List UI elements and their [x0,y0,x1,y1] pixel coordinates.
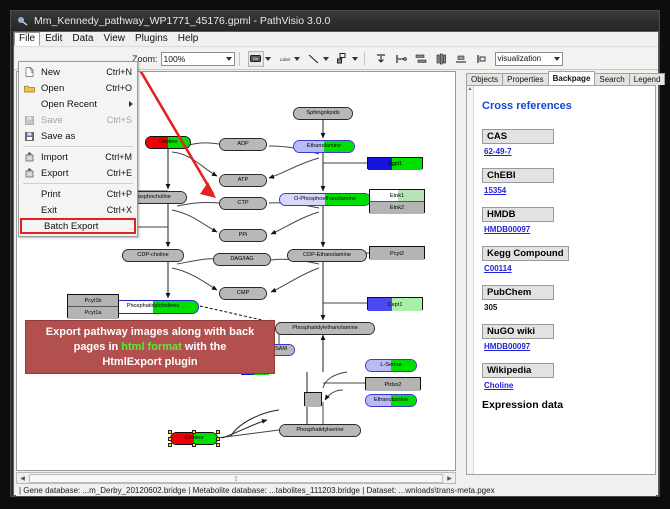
scroll-up-icon[interactable]: ▲ [467,86,473,93]
side-panel-tabs: Objects Properties Backpage Search Legen… [466,71,664,85]
file-menu-item-exit[interactable]: ExitCtrl+X [19,202,137,218]
annotation-line-1: Export pathway images along with back [46,325,254,340]
line-tool-button[interactable] [306,51,322,67]
file-menu-item-open[interactable]: OpenCtrl+O [19,80,137,96]
pathvisio-icon [17,15,29,27]
menu-bar: File Edit Data View Plugins Help [14,32,658,47]
import-icon [21,151,37,164]
menu-item-accelerator: Ctrl+X [107,205,137,215]
canvas-hscrollbar[interactable]: ◀ ▯ ▶ [16,472,456,484]
save-disk-icon [21,114,37,127]
menu-separator [23,146,133,147]
xref-value-nugo-wiki[interactable]: HMDB00097 [484,342,649,351]
align-top-icon[interactable] [373,51,389,67]
no-icon [24,220,40,233]
menu-item-label: Save [37,115,107,126]
label-dropdown-arrow[interactable] [293,51,302,67]
expression-data-title: Expression data [482,399,649,411]
xref-db-hmdb: HMDB [482,207,554,222]
backpage-scrollbar[interactable]: ▲ [467,86,474,474]
menu-item-label: New [37,67,106,78]
annotation-line-2b: with the [182,341,227,353]
no-icon [21,204,37,217]
svg-text:Gn: Gn [253,56,258,61]
menu-item-label: Save as [37,131,132,142]
line-dropdown-arrow[interactable] [322,51,331,67]
label-tool-button[interactable]: Label [277,51,293,67]
annotation-highlight: html format [121,341,182,353]
xref-db-pubchem: PubChem [482,285,554,300]
backpage-panel: ▲ Cross references CAS62-49-7ChEBI15354H… [466,85,656,475]
toolbar-separator [239,52,240,66]
client-area: File Edit Data View Plugins Help Zoom: 1… [13,31,659,496]
distribute-horizontal-icon[interactable] [433,51,449,67]
callout-annotation: Export pathway images along with back pa… [25,320,275,374]
distribute-vertical-icon[interactable] [413,51,429,67]
xref-value-pubchem: 305 [484,303,649,312]
toolbar-separator-2 [364,52,365,66]
tab-properties[interactable]: Properties [502,73,548,85]
menu-item-label: Open [37,83,106,94]
scroll-left-icon[interactable]: ◀ [17,473,28,483]
visualization-value: visualization [498,54,542,63]
new-file-icon [21,66,37,79]
file-menu-popup[interactable]: NewCtrl+NOpenCtrl+OOpen RecentSaveCtrl+S… [18,61,138,237]
file-menu-item-save-as[interactable]: Save as [19,128,137,144]
xref-db-nugo-wiki: NuGO wiki [482,324,554,339]
backpage-content: Cross references CAS62-49-7ChEBI15354HMD… [476,86,655,474]
file-menu-item-save: SaveCtrl+S [19,112,137,128]
group-icon[interactable] [473,51,489,67]
menu-help[interactable]: Help [173,32,204,46]
side-panel: Objects Properties Backpage Search Legen… [458,71,658,484]
screenshot-root: Mm_Kennedy_pathway_WP1771_45176.gpml - P… [0,0,670,509]
annotation-line-3: HtmlExport plugin [102,355,197,370]
menu-item-accelerator: Ctrl+S [107,115,137,125]
xref-db-wikipedia: Wikipedia [482,363,554,378]
file-menu-item-export[interactable]: ExportCtrl+E [19,165,137,181]
shape-dropdown-arrow[interactable] [351,51,360,67]
menu-item-label: Print [37,189,107,200]
menu-item-label: Exit [37,205,107,216]
menu-item-label: Batch Export [40,221,129,232]
cross-references-title: Cross references [482,100,649,112]
cross-reference-list: CAS62-49-7ChEBI15354HMDBHMDB00097Kegg Co… [482,126,649,390]
xref-value-chebi[interactable]: 15354 [484,186,649,195]
tab-legend[interactable]: Legend [629,73,666,85]
no-icon [21,188,37,201]
no-icon [21,98,37,111]
application-window: Mm_Kennedy_pathway_WP1771_45176.gpml - P… [10,10,660,497]
file-menu-item-open-recent[interactable]: Open Recent [19,96,137,112]
submenu-arrow-icon [129,101,133,107]
xref-value-hmdb[interactable]: HMDB00097 [484,225,649,234]
menu-item-accelerator: Ctrl+M [105,152,137,162]
xref-db-kegg-compound: Kegg Compound [482,246,569,261]
chevron-down-icon [554,57,560,61]
datanode-tool-button[interactable]: Gn [248,51,264,67]
xref-value-kegg-compound[interactable]: C00114 [484,264,649,273]
menu-separator [23,183,133,184]
hscroll-thumb[interactable]: ▯ [29,474,443,483]
tab-backpage[interactable]: Backpage [548,71,596,85]
menu-file[interactable]: File [14,32,40,46]
tab-search[interactable]: Search [594,73,629,85]
scroll-right-icon[interactable]: ▶ [444,473,455,483]
status-text: | Gene database: ...m_Derby_20120602.bri… [19,486,495,495]
visualization-combobox[interactable]: visualization [495,52,563,66]
zoom-combobox[interactable]: 100% [161,52,235,66]
file-menu-item-new[interactable]: NewCtrl+N [19,64,137,80]
export-icon [21,167,37,180]
title-bar: Mm_Kennedy_pathway_WP1771_45176.gpml - P… [11,11,659,31]
svg-text:Label: Label [279,57,290,62]
xref-db-chebi: ChEBI [482,168,554,183]
open-folder-icon [21,82,37,95]
datanode-dropdown-arrow[interactable] [264,51,273,67]
xref-value-cas[interactable]: 62-49-7 [484,147,649,156]
shape-tool-button[interactable] [335,51,351,67]
zoom-value: 100% [164,54,186,64]
status-bar: | Gene database: ...m_Derby_20120602.bri… [16,485,656,496]
menu-item-accelerator: Ctrl+E [107,168,137,178]
annotation-line-2a: pages in [74,341,122,353]
stack-center-icon[interactable] [453,51,469,67]
window-title: Mm_Kennedy_pathway_WP1771_45176.gpml - P… [34,15,330,27]
save-as-icon [21,130,37,143]
xref-value-wikipedia[interactable]: Choline [484,381,649,390]
menu-plugins[interactable]: Plugins [130,32,173,46]
file-menu-item-import[interactable]: ImportCtrl+M [19,149,137,165]
menu-item-accelerator: Ctrl+P [107,189,137,199]
xref-db-cas: CAS [482,129,554,144]
menu-data[interactable]: Data [67,32,98,46]
align-left-icon[interactable] [393,51,409,67]
menu-item-accelerator: Ctrl+N [106,67,137,77]
menu-item-accelerator: Ctrl+O [106,83,137,93]
file-menu-item-print[interactable]: PrintCtrl+P [19,186,137,202]
menu-view[interactable]: View [98,32,130,46]
menu-item-label: Open Recent [37,99,132,110]
menu-edit[interactable]: Edit [40,32,67,46]
menu-item-label: Import [37,152,105,163]
tab-objects[interactable]: Objects [466,73,503,85]
menu-item-label: Export [37,168,107,179]
file-menu-item-batch-export[interactable]: Batch Export [20,218,136,234]
annotation-line-2: pages in html format with the [74,340,227,355]
chevron-down-icon [226,57,232,61]
